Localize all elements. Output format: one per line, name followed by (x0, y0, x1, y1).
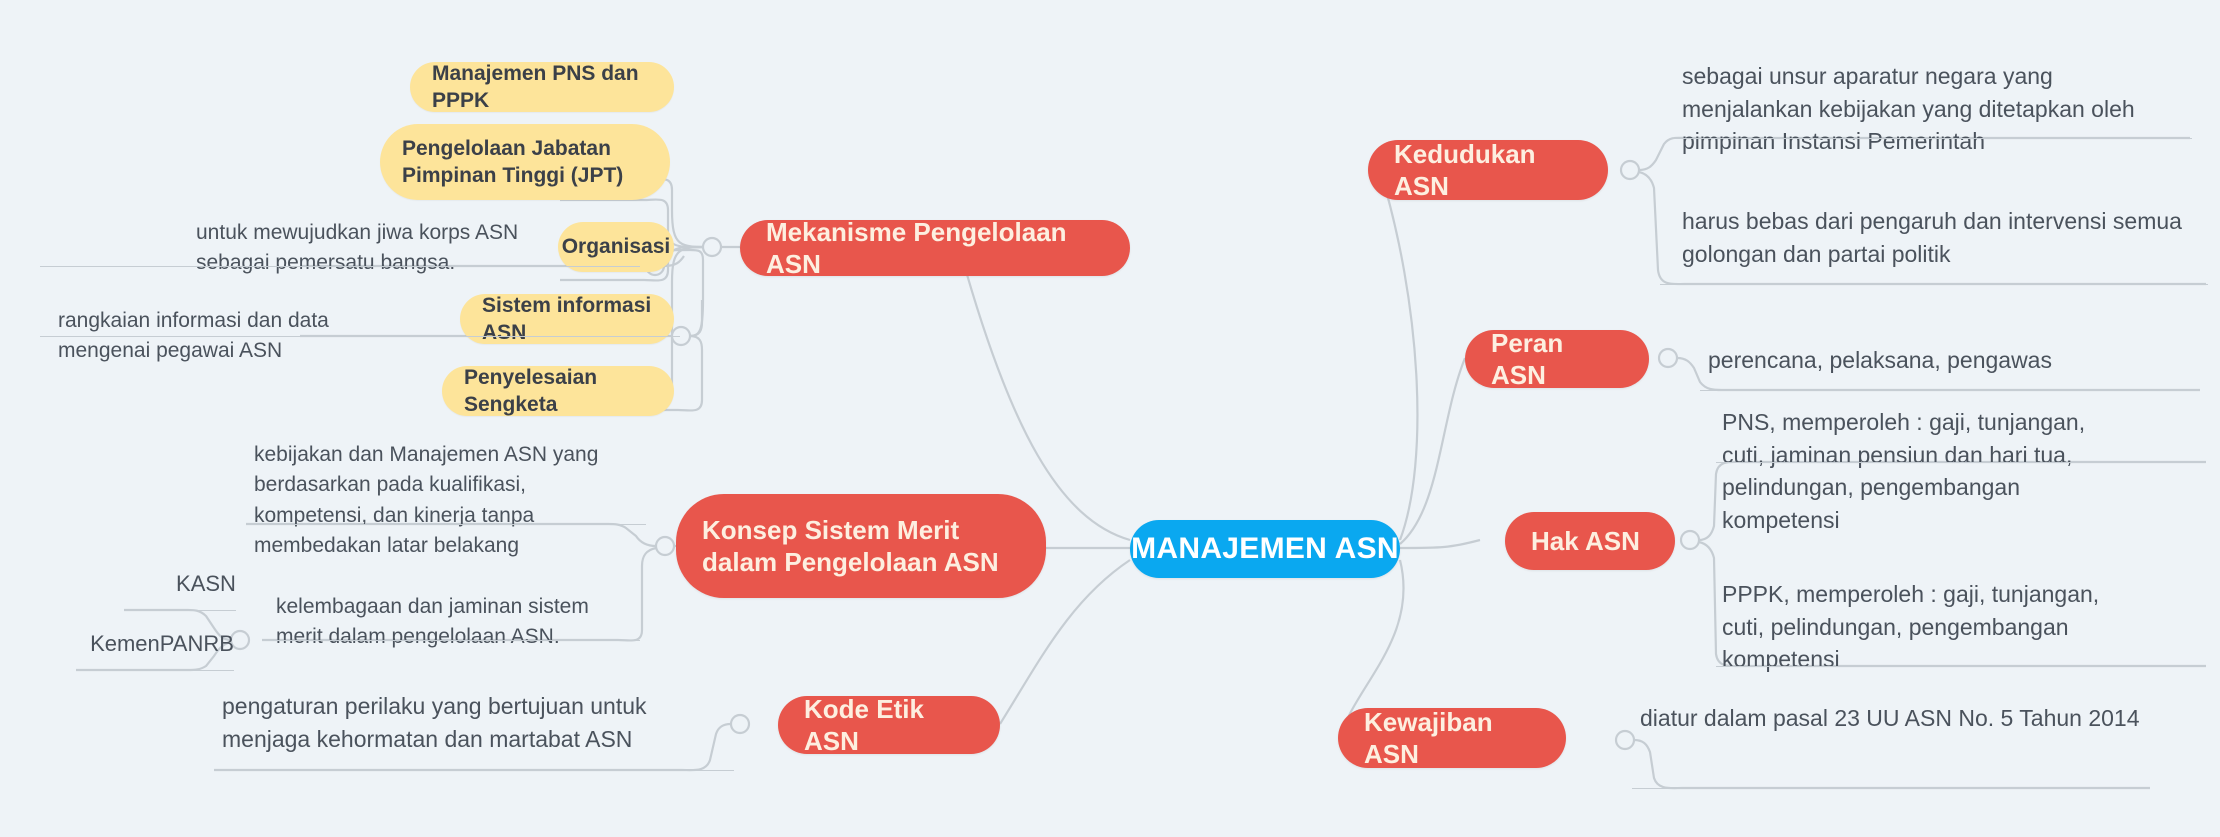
branch-kedudukan-asn-label: Kedudukan ASN (1394, 138, 1582, 203)
branch-kode-etik-asn[interactable]: Kode Etik ASN (778, 696, 1000, 754)
note-peran-1-underline (1700, 390, 2200, 391)
branch-peran-asn-label: Peran ASN (1491, 327, 1623, 392)
note-kedudukan-2: harus bebas dari pengaruh dan intervensi… (1682, 205, 2182, 270)
mindmap-canvas: MANAJEMEN ASN Mekanisme Pengelolaan ASN … (0, 0, 2220, 837)
sub-sistem-informasi-asn-label: Sistem informasi ASN (482, 292, 652, 347)
sub-penyelesaian-sengketa[interactable]: Penyelesaian Sengketa (442, 366, 674, 416)
branch-peran-asn[interactable]: Peran ASN (1465, 330, 1649, 388)
branch-konsep-sistem-merit[interactable]: Konsep Sistem Merit dalam Pengelolaan AS… (676, 494, 1046, 598)
sub-pengelolaan-jpt-label: Pengelolaan Jabatan Pimpinan Tinggi (JPT… (402, 135, 648, 190)
note-kasn-underline (124, 610, 236, 611)
sub-organisasi[interactable]: Organisasi (558, 222, 674, 272)
note-peran-1: perencana, pelaksana, pengawas (1708, 344, 2168, 377)
branch-hak-asn[interactable]: Hak ASN (1505, 512, 1675, 570)
sub-pengelolaan-jpt[interactable]: Pengelolaan Jabatan Pimpinan Tinggi (JPT… (380, 124, 670, 200)
sub-manajemen-pns-dan-pppk[interactable]: Manajemen PNS dan PPPK (410, 62, 674, 112)
note-konsep-merit-kelembagaan: kelembagaan dan jaminan sistem merit dal… (276, 592, 626, 653)
note-organisasi: untuk mewujudkan jiwa korps ASN sebagai … (196, 218, 526, 279)
note-konsep-merit-definisi-underline (246, 524, 646, 525)
branch-mekanisme-pengelolaan-asn[interactable]: Mekanisme Pengelolaan ASN (740, 220, 1130, 276)
branch-hak-asn-label: Hak ASN (1531, 525, 1640, 558)
center-node-label: MANAJEMEN ASN (1131, 532, 1399, 566)
note-kemenpanrb-underline (76, 670, 234, 671)
branch-kewajiban-asn[interactable]: Kewajiban ASN (1338, 708, 1566, 768)
note-kedudukan-2-underline (1660, 284, 2208, 285)
note-kedudukan-1-underline (1672, 138, 2192, 139)
note-institution-kemenpanrb: KemenPANRB (72, 628, 252, 659)
note-kewajiban-1: diatur dalam pasal 23 UU ASN No. 5 Tahun… (1640, 702, 2140, 735)
branch-mekanisme-label: Mekanisme Pengelolaan ASN (766, 216, 1104, 281)
sub-penyelesaian-sengketa-label: Penyelesaian Sengketa (464, 364, 652, 419)
note-hak-pppk-underline (1716, 666, 2206, 667)
note-hak-pppk: PPPK, memperoleh : gaji, tunjangan, cuti… (1722, 578, 2112, 676)
branch-konsep-sistem-merit-label: Konsep Sistem Merit dalam Pengelolaan AS… (702, 514, 1020, 579)
note-kode-etik-underline (214, 770, 734, 771)
note-sistem-informasi-underline (40, 336, 680, 337)
note-institution-kasn: KASN (146, 568, 266, 599)
branch-kewajiban-asn-label: Kewajiban ASN (1364, 706, 1540, 771)
note-hak-pns: PNS, memperoleh : gaji, tunjangan, cuti,… (1722, 406, 2112, 537)
note-organisasi-underline (40, 266, 640, 267)
sub-manajemen-pns-dan-pppk-label: Manajemen PNS dan PPPK (432, 60, 652, 115)
branch-kedudukan-asn[interactable]: Kedudukan ASN (1368, 140, 1608, 200)
note-konsep-merit-definisi: kebijakan dan Manajemen ASN yang berdasa… (254, 440, 640, 562)
sub-organisasi-label: Organisasi (562, 233, 671, 260)
note-kewajiban-1-underline (1632, 788, 2150, 789)
note-kedudukan-1: sebagai unsur aparatur negara yang menja… (1682, 60, 2172, 158)
note-hak-pns-underline (1716, 462, 2206, 463)
note-kode-etik: pengaturan perilaku yang bertujuan untuk… (222, 690, 732, 755)
center-node-manajemen-asn[interactable]: MANAJEMEN ASN (1130, 520, 1400, 578)
note-konsep-merit-kelembagaan-underline (262, 640, 640, 641)
branch-kode-etik-asn-label: Kode Etik ASN (804, 693, 974, 758)
